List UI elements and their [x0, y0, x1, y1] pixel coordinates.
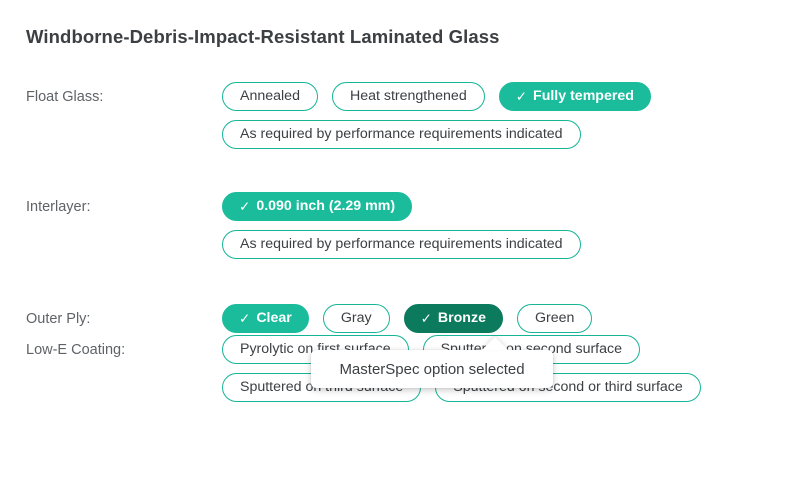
option-chip[interactable]: ✓Fully tempered — [499, 82, 651, 111]
tooltip: MasterSpec option selected — [311, 350, 553, 388]
spec-row-float-glass: Float Glass:AnnealedHeat strengthened✓Fu… — [0, 80, 788, 149]
option-chip-label: As required by performance requirements … — [240, 127, 563, 141]
check-icon: ✓ — [239, 312, 250, 326]
option-chip[interactable]: Gray — [323, 304, 390, 333]
option-chip[interactable]: ✓0.090 inch (2.29 mm) — [222, 192, 412, 221]
option-chip-label: As required by performance requirements … — [240, 237, 563, 251]
check-icon: ✓ — [516, 90, 527, 104]
option-chip-label: Bronze — [438, 311, 486, 325]
option-chip-label: Clear — [256, 311, 292, 325]
option-chip-label: Fully tempered — [533, 89, 634, 103]
spec-row-interlayer: Interlayer:✓0.090 inch (2.29 mm)As requi… — [0, 190, 788, 259]
option-chip-label: 0.090 inch (2.29 mm) — [256, 199, 395, 213]
chips-area-outer-ply: ✓ClearGray✓BronzeGreen — [222, 302, 762, 333]
option-chip-label: Gray — [341, 311, 372, 325]
spec-row-outer-ply: Outer Ply:✓ClearGray✓BronzeGreen — [0, 302, 788, 333]
option-chip[interactable]: Annealed — [222, 82, 318, 111]
option-chip[interactable]: ✓Bronze — [404, 304, 503, 333]
check-icon: ✓ — [239, 200, 250, 214]
option-chip[interactable]: As required by performance requirements … — [222, 120, 581, 149]
check-icon: ✓ — [421, 312, 432, 326]
option-chip-label: Green — [535, 311, 574, 325]
row-label-low-e-coating: Low-E Coating: — [26, 333, 222, 358]
row-label-float-glass: Float Glass: — [26, 80, 222, 105]
page-title: Windborne-Debris-Impact-Resistant Lamina… — [26, 26, 500, 48]
chips-area-float-glass: AnnealedHeat strengthened✓Fully tempered… — [222, 80, 762, 149]
tooltip-text: MasterSpec option selected — [339, 361, 524, 378]
row-label-outer-ply: Outer Ply: — [26, 302, 222, 327]
option-chip-label: Annealed — [240, 89, 300, 103]
row-label-interlayer: Interlayer: — [26, 190, 222, 215]
option-chip-label: Heat strengthened — [350, 89, 467, 103]
option-chip[interactable]: ✓Clear — [222, 304, 309, 333]
option-chip[interactable]: Heat strengthened — [332, 82, 485, 111]
tooltip-arrow-icon — [482, 337, 508, 350]
spec-options-page: Windborne-Debris-Impact-Resistant Lamina… — [0, 0, 788, 487]
option-chip[interactable]: Green — [517, 304, 592, 333]
option-chip[interactable]: As required by performance requirements … — [222, 230, 581, 259]
chips-area-interlayer: ✓0.090 inch (2.29 mm)As required by perf… — [222, 190, 762, 259]
